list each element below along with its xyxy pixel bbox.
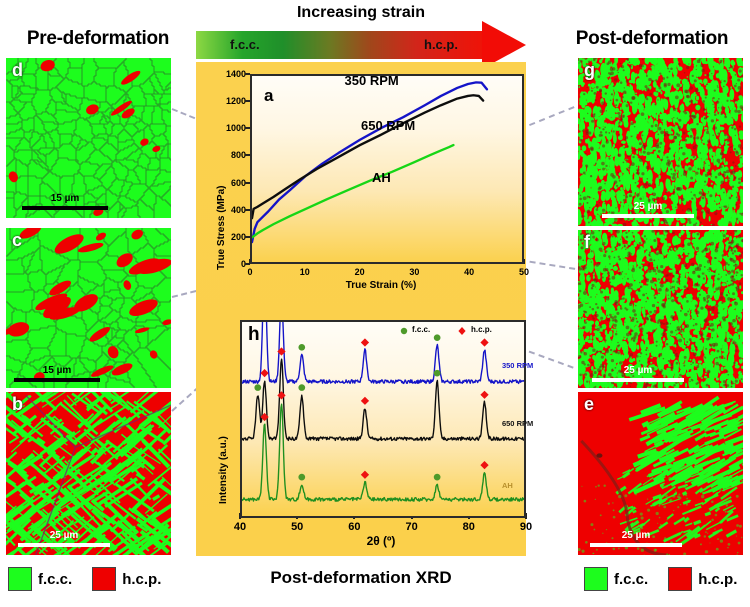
micrograph-g[interactable]: g 25 µm	[578, 58, 743, 226]
xrd-marker-legend: f.c.c. h.c.p.	[396, 324, 526, 338]
xrd-series-label-650rpm: 650 RPM	[502, 419, 533, 428]
legend-left-hcp-label: h.c.p.	[122, 571, 161, 588]
xrd-svg	[242, 322, 524, 516]
micrograph-d-scalebar: 15 µm	[22, 193, 108, 210]
micrograph-f[interactable]: f 25 µm	[578, 230, 743, 388]
curve-label-650rpm: 650 RPM	[361, 118, 415, 133]
post-deformation-heading: Post-deformation	[556, 28, 748, 50]
legend-right-hcp-swatch	[668, 567, 692, 591]
stress-strain-y-tick-1000: 1000	[214, 123, 246, 133]
micrograph-c-scalebar-line	[14, 378, 100, 382]
micrograph-b-scalebar-text: 25 µm	[18, 530, 110, 542]
micrograph-c-image	[6, 228, 171, 388]
xrd-x-tick-60: 60	[340, 521, 368, 533]
fcc-arrow-label: f.c.c.	[230, 37, 260, 52]
stress-strain-y-tick-600: 600	[214, 178, 246, 188]
stress-strain-x-tick-0: 0	[238, 267, 262, 277]
xrd-x-tick-70: 70	[398, 521, 426, 533]
micrograph-g-scalebar: 25 µm	[602, 201, 694, 218]
xrd-x-tick-40: 40	[226, 521, 254, 533]
xrd-series-label-350rpm: 350 RPM	[502, 361, 533, 370]
xrd-x-tick-90: 90	[512, 521, 540, 533]
micrograph-d[interactable]: d 15 µm	[6, 58, 171, 218]
micrograph-g-scalebar-line	[602, 214, 694, 218]
legend-left: f.c.c. h.c.p.	[8, 567, 161, 591]
legend-right-hcp-label: h.c.p.	[698, 571, 737, 588]
legend-left-fcc-swatch	[8, 567, 32, 591]
hcp-arrow-label: h.c.p.	[424, 37, 458, 52]
micrograph-f-tag: f	[584, 232, 590, 253]
micrograph-e-scalebar: 25 µm	[590, 530, 682, 547]
legend-right-fcc-swatch	[584, 567, 608, 591]
legend-left-hcp-swatch	[92, 567, 116, 591]
micrograph-c-scalebar: 15 µm	[14, 365, 100, 382]
stress-strain-x-tick-30: 30	[402, 267, 426, 277]
micrograph-e-tag: e	[584, 394, 594, 415]
pre-deformation-heading: Pre-deformation	[2, 28, 194, 50]
stress-strain-x-tick-10: 10	[293, 267, 317, 277]
stress-strain-x-tick-50: 50	[512, 267, 536, 277]
xrd-chart: Intensity (a.u.) 405060708090 2θ (º) h f…	[206, 318, 526, 556]
micrograph-b-scalebar-line	[18, 543, 110, 547]
xrd-legend-fcc-label: f.c.c.	[412, 325, 430, 334]
micrograph-e[interactable]: e 25 µm	[578, 392, 743, 555]
micrograph-b[interactable]: b 25 µm	[6, 392, 171, 555]
stress-strain-x-axis-title: True Strain (%)	[246, 280, 516, 291]
panel-letter-a: a	[264, 86, 273, 106]
stress-strain-x-tick-20: 20	[348, 267, 372, 277]
xrd-x-axis-title: 2θ (º)	[246, 534, 516, 548]
legend-right: f.c.c. h.c.p.	[584, 567, 737, 591]
increasing-strain-label: Increasing strain	[196, 4, 526, 22]
panel-letter-h: h	[248, 324, 260, 346]
stress-strain-y-tick-200: 200	[214, 232, 246, 242]
micrograph-e-scalebar-text: 25 µm	[590, 530, 682, 542]
stress-strain-y-tick-1400: 1400	[214, 69, 246, 79]
micrograph-f-scalebar: 25 µm	[592, 365, 684, 382]
post-deformation-xrd-caption: Post-deformation XRD	[196, 568, 526, 588]
stress-strain-y-tick-400: 400	[214, 205, 246, 215]
legend-left-fcc-label: f.c.c.	[38, 571, 72, 588]
micrograph-c-tag: c	[12, 230, 22, 251]
stress-strain-y-axis-title: True Stress (MPa)	[216, 186, 227, 270]
increasing-strain-title: Increasing strain	[196, 4, 526, 22]
micrograph-b-tag: b	[12, 394, 23, 415]
micrograph-c-scalebar-text: 15 µm	[14, 365, 100, 377]
micrograph-d-scalebar-text: 15 µm	[22, 193, 108, 205]
curve-label-350rpm: 350 RPM	[345, 73, 399, 88]
stress-strain-chart: True Stress (MPa) 0200400600800100012001…	[206, 70, 526, 300]
micrograph-f-scalebar-line	[592, 378, 684, 382]
xrd-plot-area	[240, 320, 526, 518]
micrograph-g-scalebar-text: 25 µm	[602, 201, 694, 213]
legend-right-fcc-label: f.c.c.	[614, 571, 648, 588]
micrograph-b-scalebar: 25 µm	[18, 530, 110, 547]
micrograph-d-scalebar-line	[22, 206, 108, 210]
micrograph-d-tag: d	[12, 60, 23, 81]
micrograph-e-scalebar-line	[590, 543, 682, 547]
xrd-series-label-ah: AH	[502, 481, 513, 490]
strain-gradient-arrow: f.c.c. h.c.p.	[196, 27, 526, 63]
xrd-x-tick-50: 50	[283, 521, 311, 533]
micrograph-c[interactable]: c 15 µm	[6, 228, 171, 388]
xrd-x-tick-80: 80	[455, 521, 483, 533]
curve-label-ah: AH	[372, 170, 391, 185]
xrd-y-axis-title: Intensity (a.u.)	[218, 436, 229, 504]
xrd-legend-hcp-label: h.c.p.	[471, 325, 492, 334]
stress-strain-y-tick-1200: 1200	[214, 96, 246, 106]
stress-strain-x-tick-40: 40	[457, 267, 481, 277]
micrograph-g-tag: g	[584, 60, 595, 81]
stress-strain-y-tick-800: 800	[214, 150, 246, 160]
micrograph-f-scalebar-text: 25 µm	[592, 365, 684, 377]
